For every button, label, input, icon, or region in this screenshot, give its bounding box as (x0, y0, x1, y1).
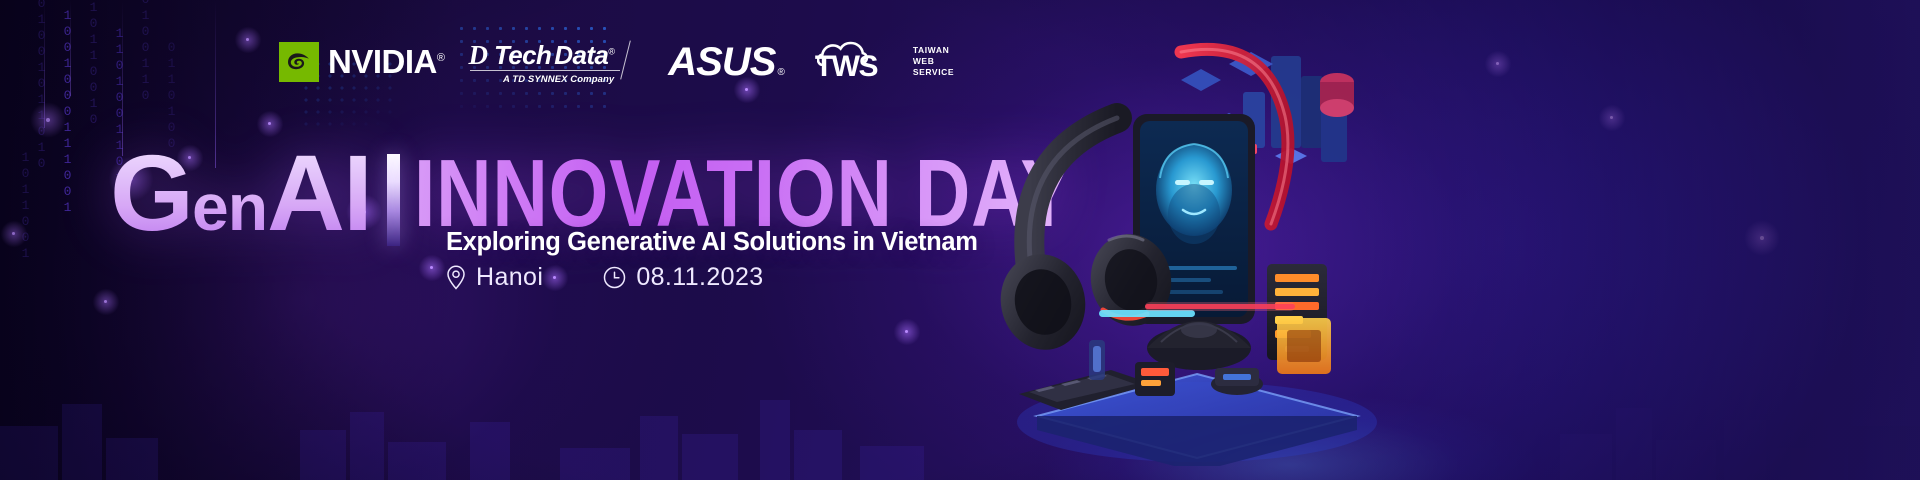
partner-logo-strip: NVIDIA® D TechData® A TD SYNNEX Company … (279, 36, 954, 88)
genai-innovation-day-banner: 01001011010 1001000111001 010110010 1101… (0, 0, 1920, 480)
glow-particle (1760, 236, 1764, 240)
city-skyline (0, 330, 1920, 480)
binary-column: 01001011010 (34, 0, 49, 172)
glow-line (70, 0, 71, 96)
techdata-tagline: A TD SYNNEX Company (503, 74, 614, 85)
glow-particle (1610, 116, 1613, 119)
right-glow (1360, 0, 1920, 480)
glow-panel (1277, 318, 1331, 374)
logo-tech-data: D TechData® A TD SYNNEX Company (468, 42, 614, 83)
glow-particle (905, 330, 908, 333)
asus-wordmark: ASUS (668, 42, 775, 82)
event-location: Hanoi (446, 263, 543, 292)
divider (620, 40, 631, 79)
binary-column: 0100110 (138, 0, 153, 104)
nvidia-trademark: ® (437, 52, 445, 64)
brand-genai: GenAI (110, 142, 371, 244)
event-meta: Hanoi 08.11.2023 (446, 263, 764, 292)
light-bar (1099, 310, 1195, 317)
logo-asus: ASUS ® (668, 42, 785, 82)
title-divider (387, 154, 400, 246)
event-location-label: Hanoi (476, 263, 543, 292)
binary-column: 1001000111001 (60, 8, 75, 216)
nvidia-eye-icon (279, 42, 319, 82)
techdata-wordmark: TechData® (494, 42, 614, 68)
glow-particle (268, 122, 271, 125)
event-subtitle: Exploring Generative AI Solutions in Vie… (446, 228, 978, 257)
glow-particle (430, 266, 433, 269)
event-date-label: 08.11.2023 (636, 263, 763, 292)
nvidia-wordmark: NVIDIA® (328, 43, 444, 81)
asus-registered: ® (777, 67, 784, 78)
glow-particle (745, 88, 748, 91)
clock-icon (603, 266, 626, 289)
binary-column: 1011001 (18, 150, 33, 262)
glow-particle (104, 300, 107, 303)
logo-nvidia: NVIDIA® (279, 42, 444, 82)
tws-tagline: TAIWAN WEB SERVICE (913, 45, 954, 79)
techdata-d-icon: D (468, 42, 488, 69)
logo-tws: TWS TAIWAN WEB SERVICE (815, 40, 954, 84)
genai-isometric-scene (985, 18, 1405, 466)
glow-line (44, 0, 45, 128)
binary-column: 010110010 (86, 0, 101, 128)
location-pin-icon (446, 265, 466, 290)
glow-particle (12, 232, 15, 235)
glow-particle (1496, 62, 1499, 65)
glow-particle (246, 38, 249, 41)
glow-particle (46, 118, 50, 122)
event-date: 08.11.2023 (603, 263, 763, 292)
divider (470, 70, 620, 71)
tws-wordmark: TWS (815, 52, 877, 82)
laser-streak (1145, 302, 1295, 311)
